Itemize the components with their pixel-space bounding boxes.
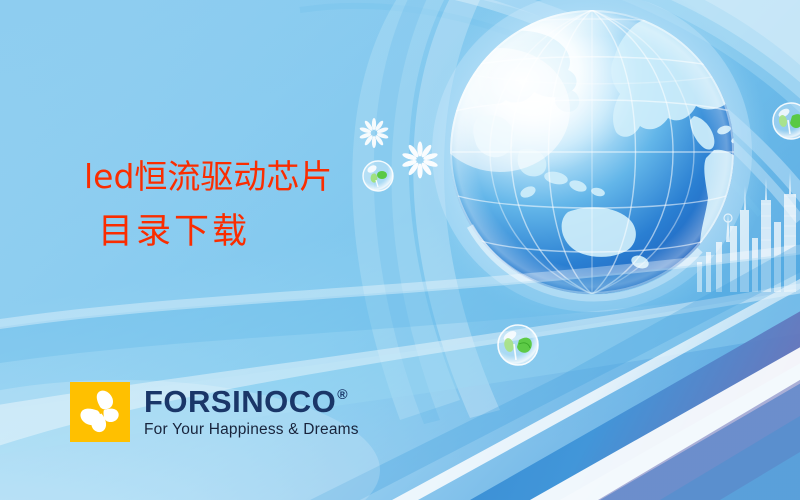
logo-wordmark: FORSINOCO® [144, 386, 359, 417]
logo-wordmark-text: FORSINOCO [144, 386, 336, 417]
bubble-leaf-icon [498, 325, 538, 365]
presentation-slide: led恒流驱动芯片 目录下载 FORSINOCO® For Your Happi… [0, 0, 800, 500]
bubble-globe-icon [363, 161, 393, 191]
four-petal-pinwheel-icon [70, 382, 130, 442]
company-logo: FORSINOCO® For Your Happiness & Dreams [70, 382, 359, 442]
logo-tagline: For Your Happiness & Dreams [144, 422, 359, 438]
registered-trademark-icon: ® [337, 387, 348, 401]
logo-text-block: FORSINOCO® For Your Happiness & Dreams [144, 386, 359, 438]
